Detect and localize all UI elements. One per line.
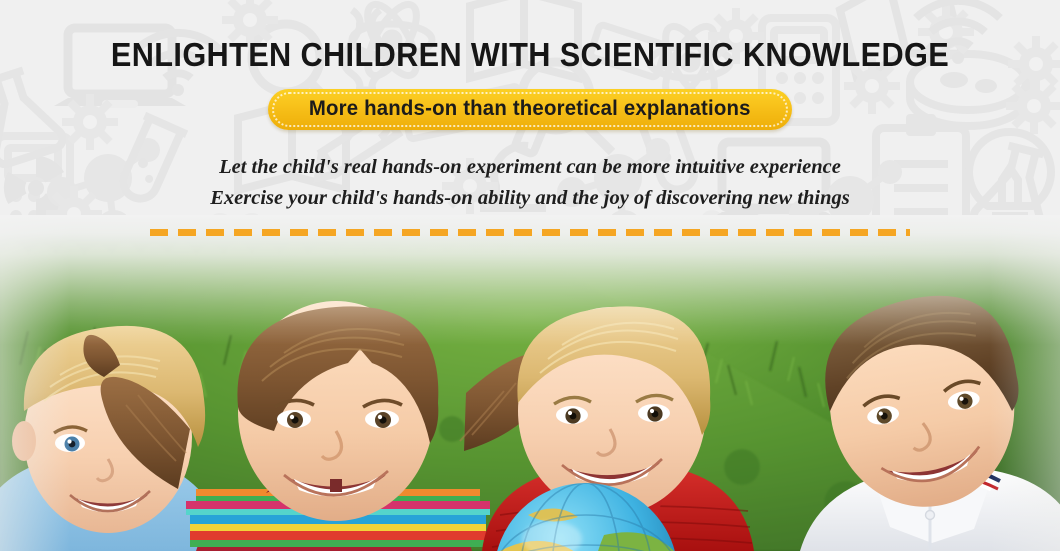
tagline-pill: More hands-on than theoretical explanati… [268, 89, 792, 130]
banner-text-block: ENLIGHTEN CHILDREN WITH SCIENTIFIC KNOWL… [0, 0, 1060, 236]
photo-illustration [0, 215, 1060, 551]
subtitle-line-1: Let the child's real hands-on experiment… [0, 152, 1060, 183]
children-on-grass-photo [0, 215, 1060, 551]
subtitle-block: Let the child's real hands-on experiment… [0, 152, 1060, 214]
page-title: ENLIGHTEN CHILDREN WITH SCIENTIFIC KNOWL… [37, 38, 1023, 73]
promo-banner: ENLIGHTEN CHILDREN WITH SCIENTIFIC KNOWL… [0, 0, 1060, 551]
dashed-divider [150, 229, 910, 236]
tagline-row: More hands-on than theoretical explanati… [0, 89, 1060, 130]
subtitle-line-2: Exercise your child's hands-on ability a… [0, 183, 1060, 214]
tagline-label: More hands-on than theoretical explanati… [309, 97, 751, 121]
